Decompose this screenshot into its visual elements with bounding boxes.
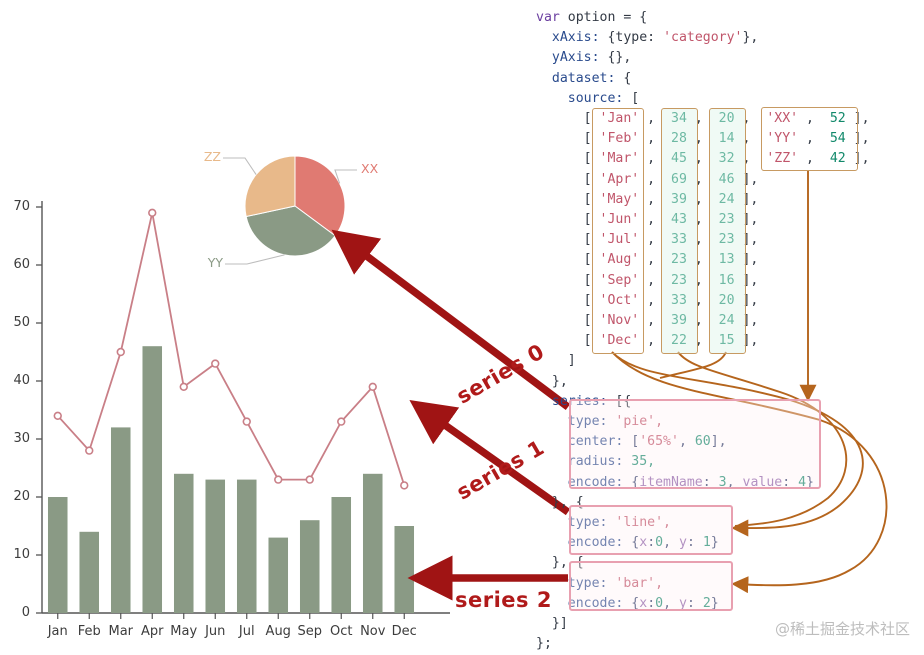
series-bar-box	[569, 561, 733, 611]
dataset-column-month-box	[592, 108, 644, 354]
watermark: @稀土掘金技术社区	[775, 618, 910, 639]
dataset-column-value1-box	[661, 108, 698, 354]
dataset-column-value2-box	[709, 108, 746, 354]
screenshot-root: 010203040506070 JanFebMarAprMayJunJulAug…	[0, 0, 924, 653]
code-panel: var option = { xAxis: {type: 'category'}…	[536, 8, 870, 655]
dataset-column-pie-box	[761, 107, 858, 171]
series-line-box	[569, 505, 733, 555]
series-pie-box	[569, 399, 821, 489]
